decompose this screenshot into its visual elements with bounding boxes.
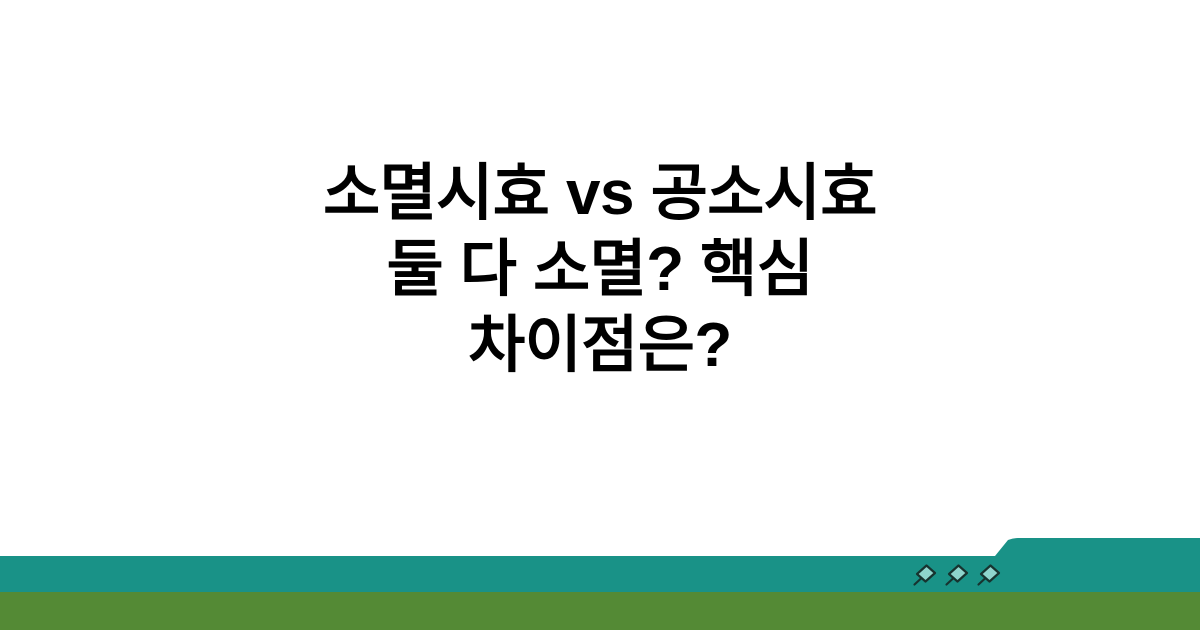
- pushpin-icon-1: [912, 562, 938, 588]
- thumbnail-card: 소멸시효 vs 공소시효 둘 다 소멸? 핵심 차이점은?: [0, 0, 1200, 630]
- pushpin-icon-2: [944, 562, 970, 588]
- pushpin-icon-3: [976, 562, 1002, 588]
- footer-green-band: [0, 592, 1200, 630]
- title-line-3: 차이점은?: [60, 308, 1140, 384]
- page-title: 소멸시효 vs 공소시효 둘 다 소멸? 핵심 차이점은?: [0, 0, 1200, 540]
- title-line-1: 소멸시효 vs 공소시효: [60, 156, 1140, 232]
- footer-teal-band: [0, 538, 1200, 592]
- pin-decoration-row: [912, 560, 1008, 590]
- title-line-2: 둘 다 소멸? 핵심: [60, 232, 1140, 308]
